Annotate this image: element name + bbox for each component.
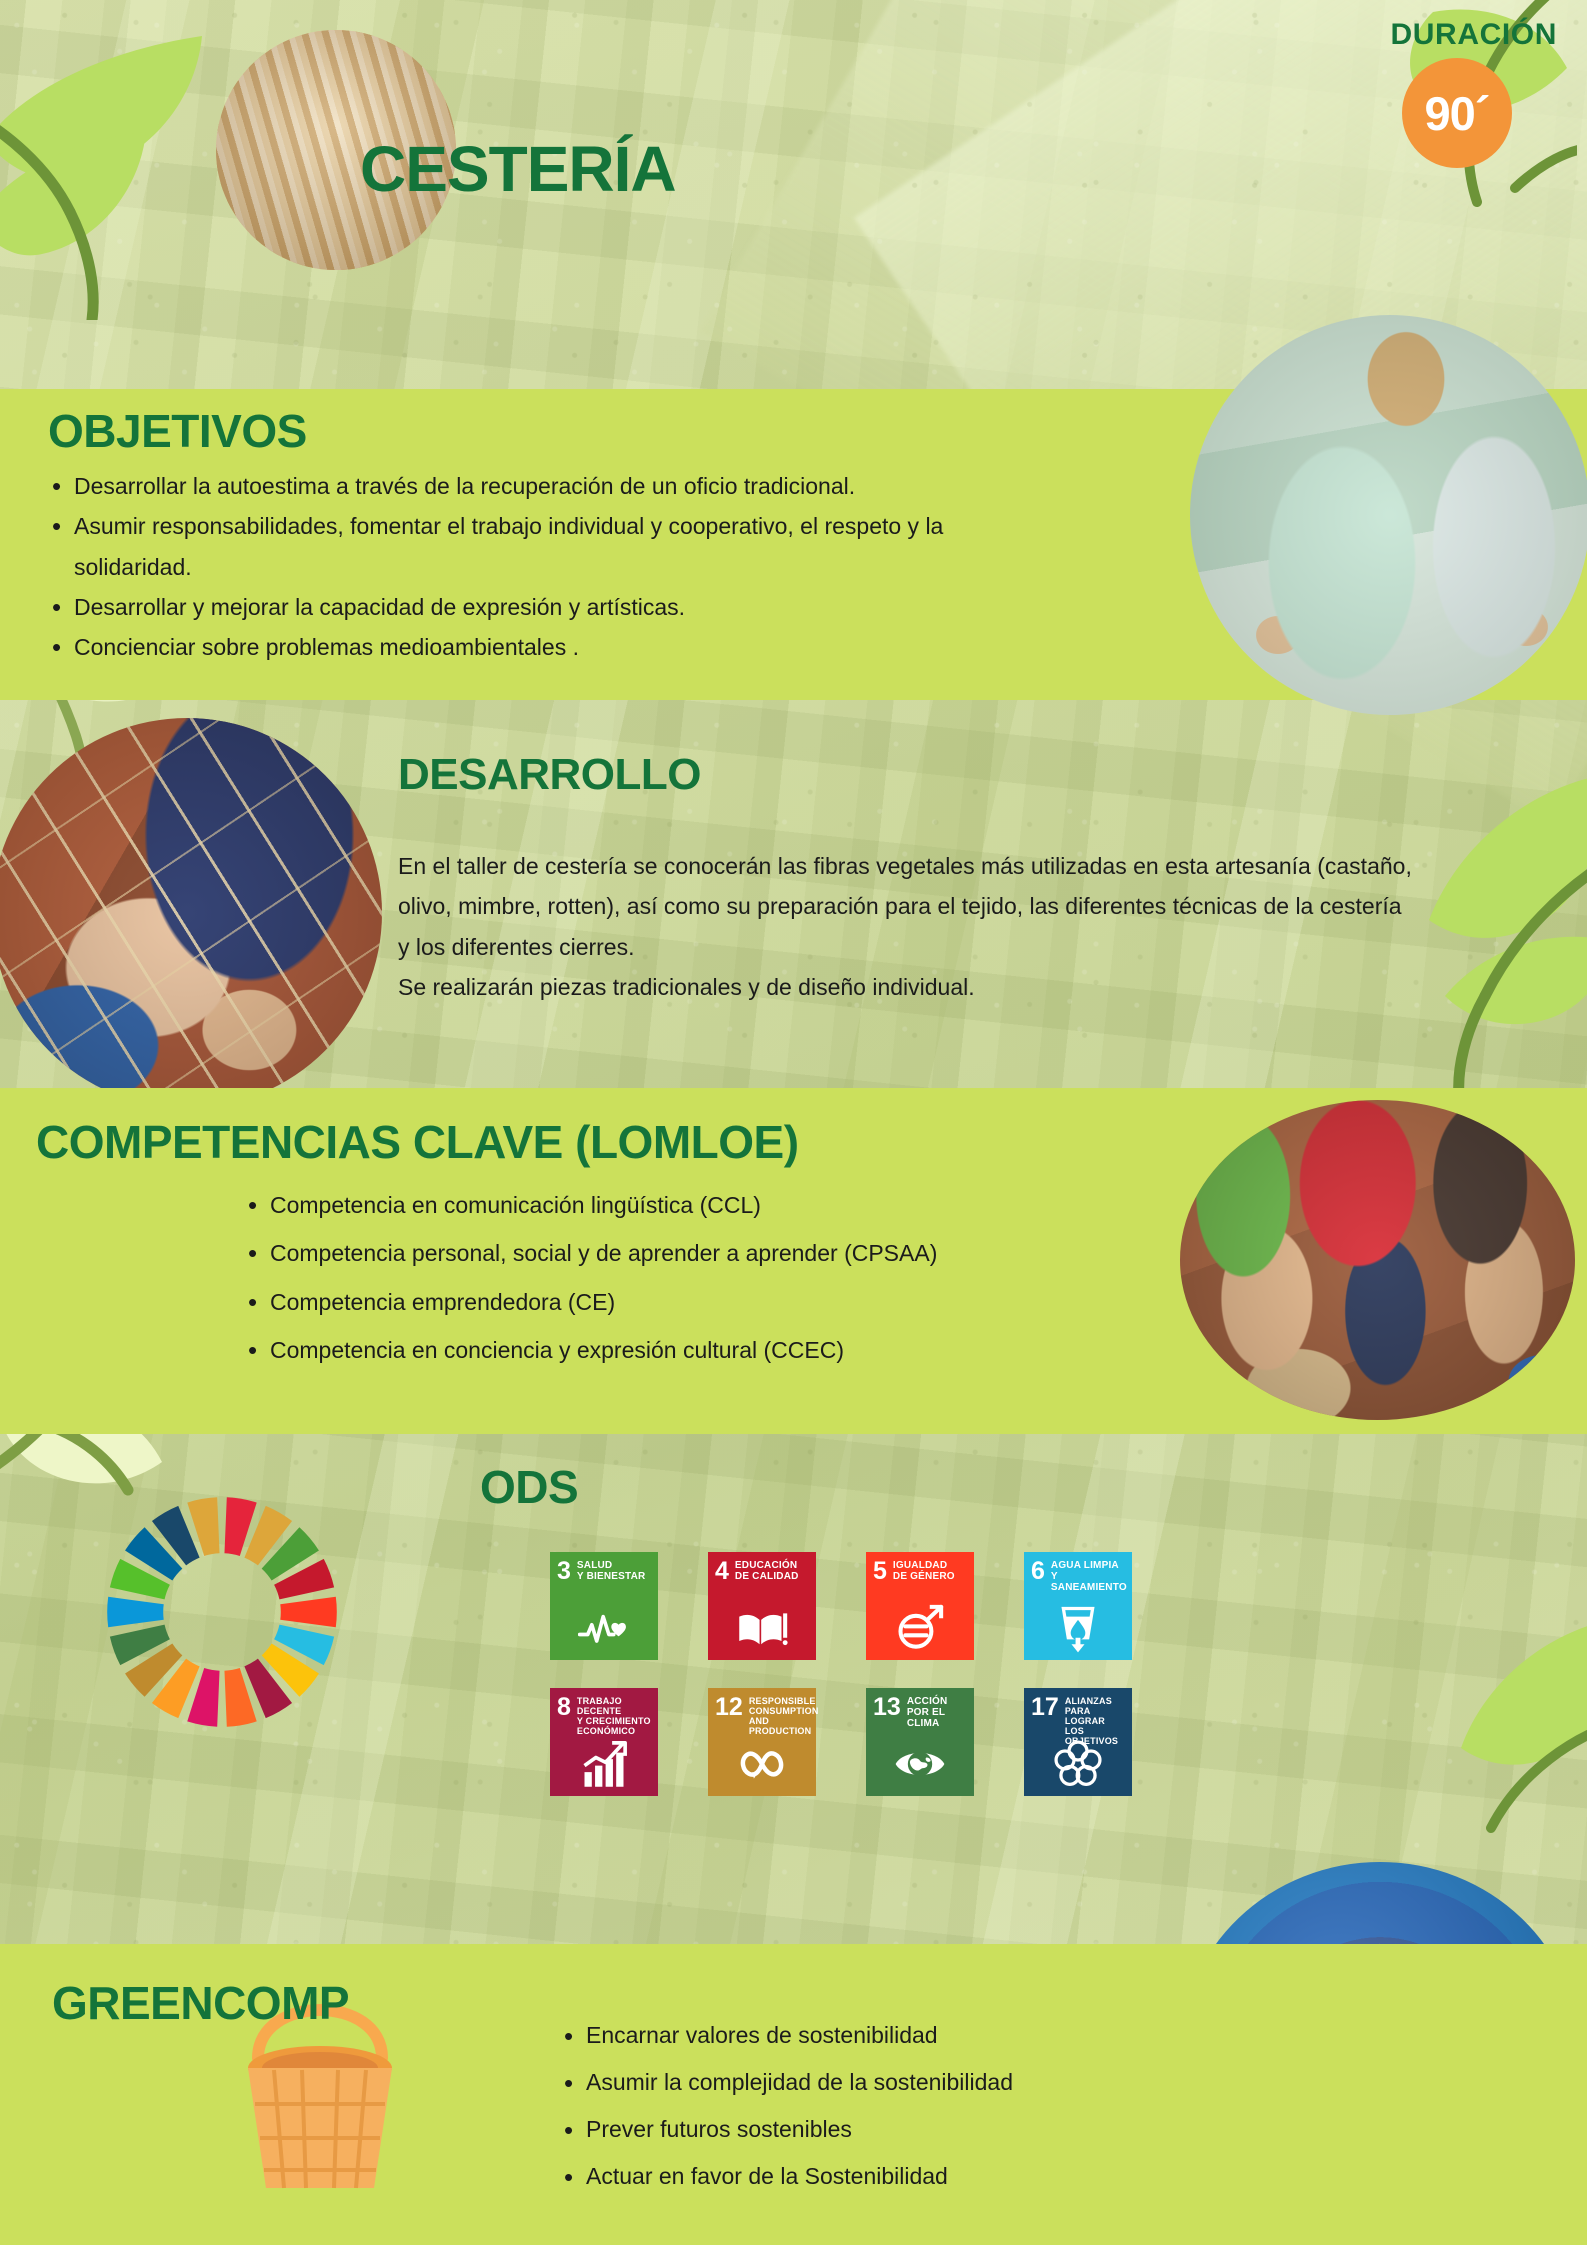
seated-group-weaving-photo (1180, 1100, 1575, 1420)
sdg-goal-17: 17 ALIANZAS PARA LOGRAR LOS OBJETIVOS (1024, 1688, 1132, 1796)
list-item: Desarrollar y mejorar la capacidad de ex… (48, 587, 1158, 627)
list-item: Competencia personal, social y de aprend… (244, 1233, 1166, 1273)
sdg-goal-12: 12 RESPONSIBLE CONSUMPTION AND PRODUCTIO… (708, 1688, 816, 1796)
sdg-goal-4: 4 EDUCACIÓN DE CALIDAD (708, 1552, 816, 1660)
page-title: CESTERÍA (360, 132, 676, 206)
list-item: Actuar en favor de la Sostenibilidad (560, 2153, 1160, 2200)
desarrollo-paragraph-2: Se realizarán piezas tradicionales y de … (398, 967, 1418, 1007)
sdg-wheel-segment (280, 1597, 337, 1627)
list-item: Asumir la complejidad de la sostenibilid… (560, 2059, 1160, 2106)
sdg-goal-grid: 3 SALUD Y BIENESTAR 4 EDUCACIÓN DE CALID… (550, 1552, 1132, 1796)
sdg-goal-8: 8 TRABAJO DECENTE Y CRECIMIENTO ECONÓMIC… (550, 1688, 658, 1796)
ods-heading: ODS (480, 1460, 578, 1514)
infinity-loop-icon (708, 1738, 816, 1790)
list-item: Concienciar sobre problemas medioambient… (48, 627, 1158, 667)
list-item: Competencia en conciencia y expresión cu… (244, 1330, 1166, 1370)
competencias-section: COMPETENCIAS CLAVE (LOMLOE) Competencia … (36, 1115, 1166, 1370)
objetivos-section: OBJETIVOS Desarrollar la autoestima a tr… (48, 404, 1158, 667)
water-glass-icon (1024, 1602, 1132, 1654)
list-item: Asumir responsabilidades, fomentar el tr… (48, 506, 1038, 587)
desarrollo-heading: DESARROLLO (398, 750, 1498, 800)
list-item: Competencia en comunicación lingüística … (244, 1185, 1166, 1225)
list-item: Prever futuros sostenibles (560, 2106, 1160, 2153)
gender-equality-icon (866, 1602, 974, 1654)
duration-label: DURACIÓN (1391, 18, 1557, 52)
desarrollo-section: DESARROLLO En el taller de cestería se c… (398, 750, 1498, 1007)
competencias-heading: COMPETENCIAS CLAVE (LOMLOE) (36, 1115, 1166, 1169)
objetivos-list: Desarrollar la autoestima a través de la… (48, 466, 1158, 667)
partnership-rings-icon (1024, 1738, 1132, 1790)
climate-eye-icon (866, 1738, 974, 1790)
sdg-color-wheel (82, 1472, 362, 1752)
sdg-goal-3: 3 SALUD Y BIENESTAR (550, 1552, 658, 1660)
infographic-poster: DURACIÓN 90´ CESTERÍA OBJETIVOS Desarrol… (0, 0, 1587, 2245)
desarrollo-paragraph-1: En el taller de cestería se conocerán la… (398, 846, 1418, 967)
sdg-wheel-segment (107, 1597, 164, 1627)
list-item: Encarnar valores de sostenibilidad (560, 2012, 1160, 2059)
duration-badge: 90´ (1402, 58, 1512, 168)
sdg-goal-13: 13 ACCIÓN POR EL CLIMA (866, 1688, 974, 1796)
greencomp-list: Encarnar valores de sostenibilidad Asumi… (560, 2012, 1160, 2201)
objetivos-heading: OBJETIVOS (48, 404, 1158, 458)
sdg-goal-6: 6 AGUA LIMPIA Y SANEAMIENTO (1024, 1552, 1132, 1660)
sdg-goal-5: 5 IGUALDAD DE GÉNERO (866, 1552, 974, 1660)
open-book-icon (708, 1602, 816, 1654)
growth-chart-icon (550, 1738, 658, 1790)
list-item: Competencia emprendedora (CE) (244, 1282, 1166, 1322)
competencias-list: Competencia en comunicación lingüística … (244, 1185, 1166, 1370)
heartbeat-icon (550, 1602, 658, 1654)
hands-weaving-photo (0, 718, 382, 1108)
list-item: Desarrollar la autoestima a través de la… (48, 466, 1158, 506)
students-holding-baskets-photo (1190, 315, 1587, 715)
